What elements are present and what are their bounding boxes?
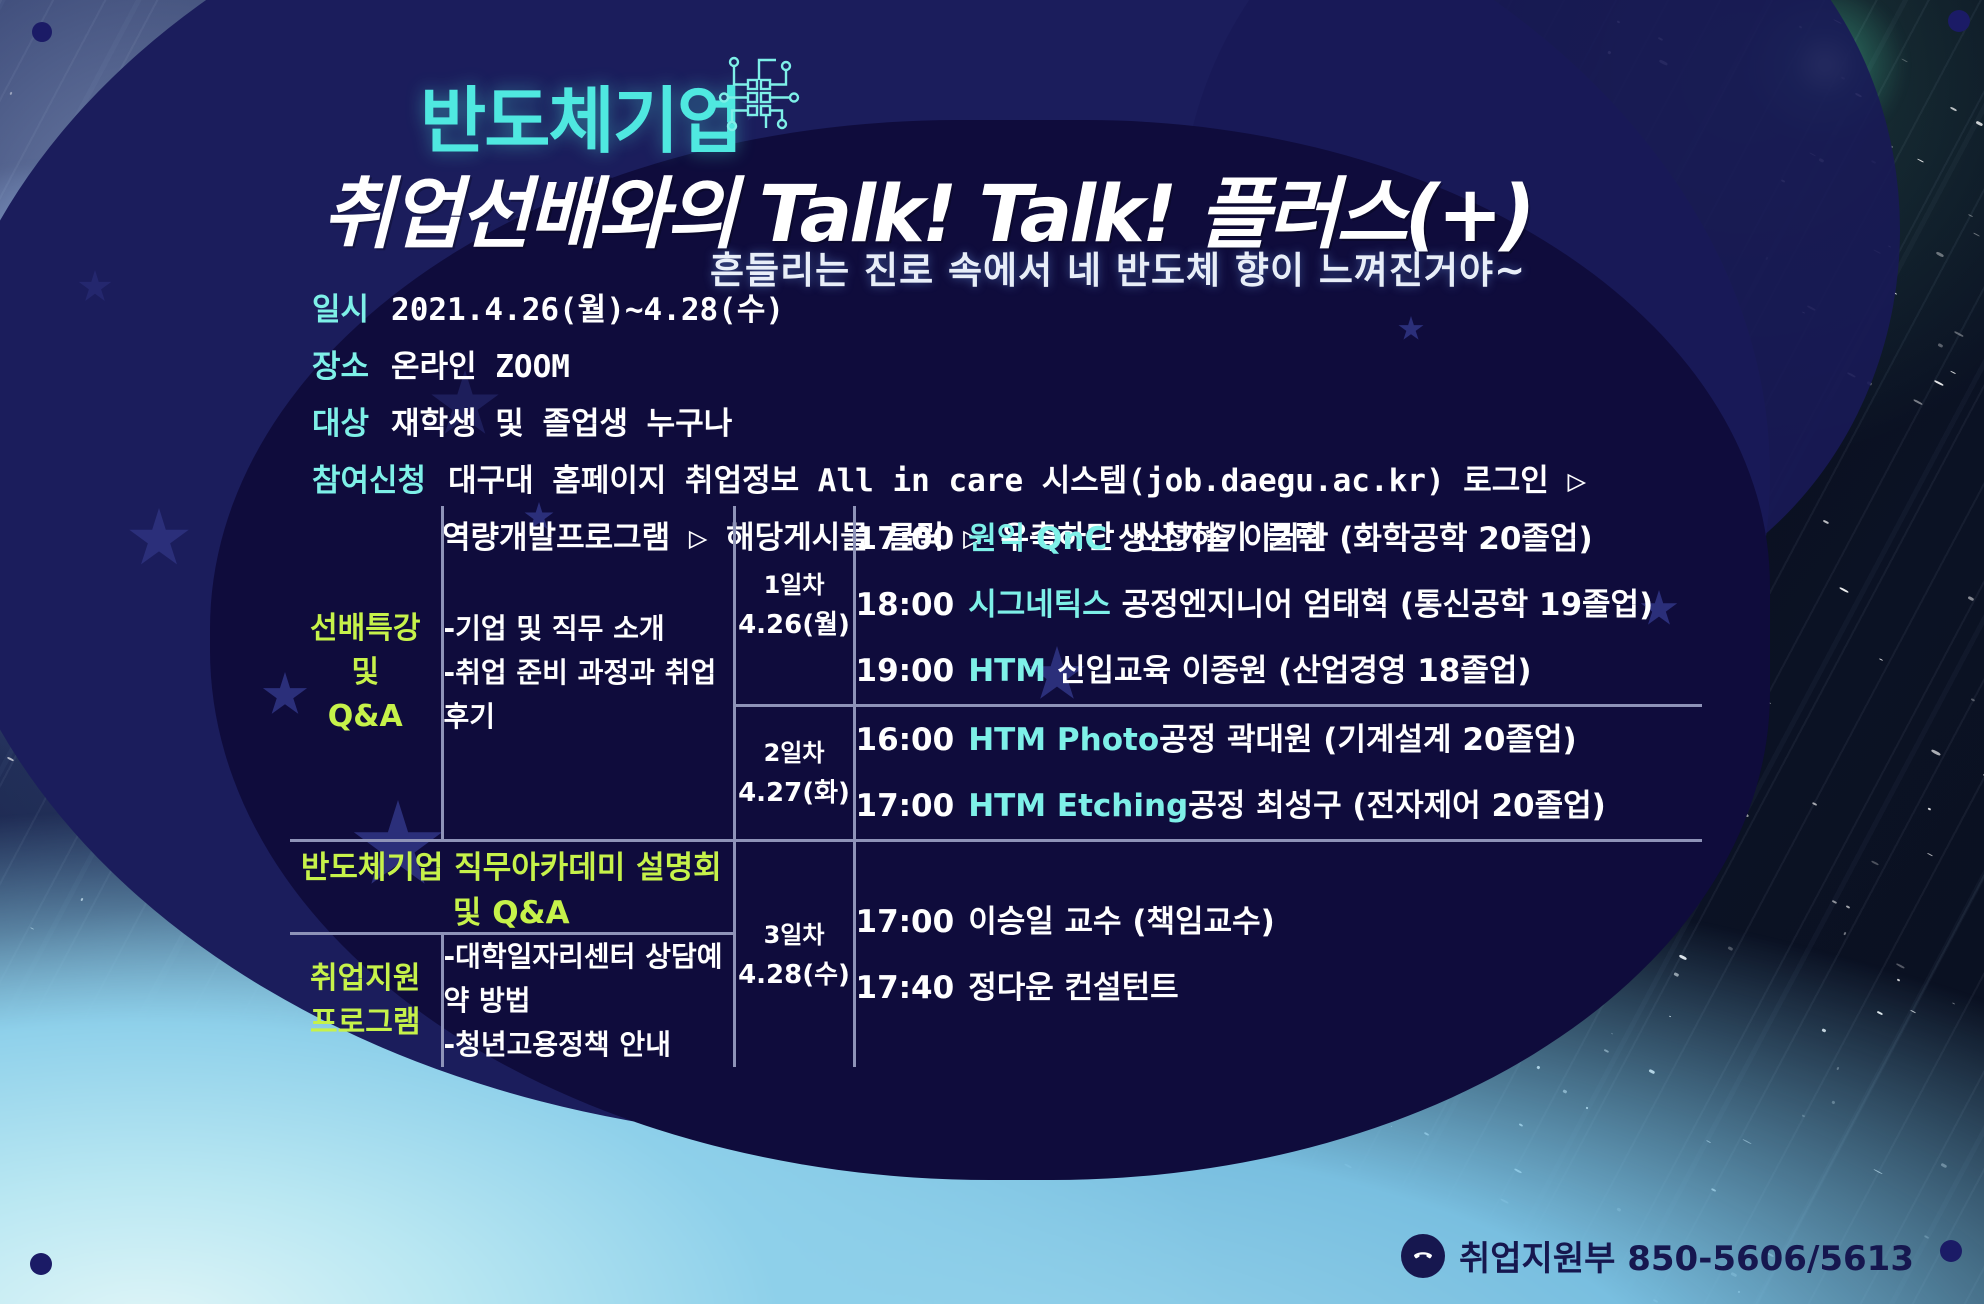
info-value-place: 온라인 ZOOM: [391, 345, 570, 390]
footer-contact: 취업지원부 850-5606/5613: [1401, 1231, 1914, 1280]
session-row: 17:00HTM Etching공정 최성구 (전자제어 20졸업): [856, 773, 1703, 839]
schedule-table: 선배특강 및 Q&A -기업 및 직무 소개 -취업 준비 과정과 취업 후기 …: [290, 506, 1702, 1067]
table-row: 반도체기업 직무아카데미 설명회 및 Q&A 3일차 4.28(수) 17:00…: [290, 841, 1702, 934]
info-row-apply: 참여신청 대구대 홈페이지 취업정보 All in care 시스템(job.d…: [312, 459, 1586, 504]
session-org: HTM: [968, 653, 1046, 689]
day1-date: 4.26(월): [736, 605, 853, 645]
session-time: 17:40: [856, 970, 955, 1006]
session-time: 19:00: [856, 653, 955, 689]
category-talk-line2: 및: [290, 651, 441, 695]
session-time: 18:00: [856, 587, 955, 623]
session-row: 17:40정다운 컨설턴트: [856, 955, 1703, 1021]
info-row-datetime: 일시 2021.4.26(월)~4.28(수): [312, 288, 1586, 333]
day3-label: 3일차: [736, 915, 853, 955]
day2-date: 4.27(화): [736, 773, 853, 813]
session-detail: 공정 최성구 (전자제어 20졸업): [1188, 788, 1606, 824]
desc-talk-line2: -취업 준비 과정과 취업 후기: [444, 651, 733, 739]
circuit-chip-icon: [710, 46, 806, 140]
day1-sessions-cell: 17:00원익 QnC 생산기술 이기환 (화학공학 20졸업) 18:00시그…: [854, 506, 1702, 706]
session-org: HTM Etching: [968, 788, 1188, 824]
footer-contact-text: 취업지원부 850-5606/5613: [1459, 1231, 1914, 1280]
desc-talk-cell: -기업 및 직무 소개 -취업 준비 과정과 취업 후기: [442, 506, 734, 841]
session-row: 19:00HTM 신입교육 이종원 (산업경영 18졸업): [856, 638, 1703, 704]
day2-sessions-cell: 16:00HTM Photo공정 곽대원 (기계설계 20졸업) 17:00HT…: [854, 706, 1702, 841]
info-label-audience: 대상: [312, 402, 369, 447]
poster-tagline: 흔들리는 진로 속에서 네 반도체 향이 느껴진거야~: [710, 240, 1526, 294]
session-detail: 공정 곽대원 (기계설계 20졸업): [1159, 722, 1577, 758]
session-detail: 생산기술 이기환 (화학공학 20졸업): [1118, 521, 1593, 557]
info-value-apply: 대구대 홈페이지 취업정보 All in care 시스템(job.daegu.…: [448, 459, 1586, 504]
session-row: 18:00시그네틱스 공정엔지니어 엄태혁 (통신공학 19졸업): [856, 572, 1703, 638]
info-label-apply: 참여신청: [312, 459, 426, 504]
category-talk-line1: 선배특강: [290, 607, 441, 651]
session-detail: 공정엔지니어 엄태혁 (통신공학 19졸업): [1122, 587, 1654, 623]
session-detail: 신입교육 이종원 (산업경영 18졸업): [1057, 653, 1532, 689]
table-row: 선배특강 및 Q&A -기업 및 직무 소개 -취업 준비 과정과 취업 후기 …: [290, 506, 1702, 706]
info-label-datetime: 일시: [312, 288, 369, 333]
info-label-place: 장소: [312, 345, 369, 390]
session-org: 원익 QnC: [968, 521, 1107, 557]
day1-label: 1일차: [736, 565, 853, 605]
session-time: 16:00: [856, 722, 955, 758]
session-org: HTM Photo: [968, 722, 1159, 758]
session-time: 17:00: [856, 521, 955, 557]
session-row: 16:00HTM Photo공정 곽대원 (기계설계 20졸업): [856, 707, 1703, 773]
session-detail: 정다운 컨설턴트: [968, 970, 1178, 1006]
category-support-line1: 취업지원: [290, 957, 441, 1001]
info-row-place: 장소 온라인 ZOOM: [312, 345, 1586, 390]
info-value-audience: 재학생 및 졸업생 누구나: [391, 402, 732, 447]
session-row: 17:00이승일 교수 (책임교수): [856, 889, 1703, 955]
day3-sessions-cell: 17:00이승일 교수 (책임교수) 17:40정다운 컨설턴트: [854, 841, 1702, 1068]
category-support-line2: 프로그램: [290, 1001, 441, 1045]
session-row: 17:00원익 QnC 생산기술 이기환 (화학공학 20졸업): [856, 506, 1703, 572]
academy-row-cell: 반도체기업 직무아카데미 설명회 및 Q&A: [290, 841, 734, 934]
info-row-audience: 대상 재학생 및 졸업생 누구나: [312, 402, 1586, 447]
day2-label: 2일차: [736, 733, 853, 773]
day1-cell: 1일차 4.26(월): [734, 506, 854, 706]
category-support-cell: 취업지원 프로그램: [290, 934, 442, 1068]
desc-talk-line1: -기업 및 직무 소개: [444, 607, 733, 651]
day3-cell: 3일차 4.28(수): [734, 841, 854, 1068]
poster-root: 반도체기업: [0, 0, 1984, 1304]
category-talk-line3: Q&A: [290, 695, 441, 739]
session-org: 시그네틱스: [968, 587, 1111, 623]
day2-cell: 2일차 4.27(화): [734, 706, 854, 841]
session-detail: 이승일 교수 (책임교수): [968, 904, 1275, 940]
session-time: 17:00: [856, 788, 955, 824]
info-value-datetime: 2021.4.26(월)~4.28(수): [391, 288, 784, 333]
desc-support-line1: -대학일자리센터 상담예약 방법: [444, 935, 733, 1023]
phone-icon: [1401, 1234, 1445, 1278]
desc-support-line2: -청년고용정책 안내: [444, 1023, 733, 1067]
desc-support-cell: -대학일자리센터 상담예약 방법 -청년고용정책 안내: [442, 934, 734, 1068]
session-time: 17:00: [856, 904, 955, 940]
day3-date: 4.28(수): [736, 955, 853, 995]
category-talk-cell: 선배특강 및 Q&A: [290, 506, 442, 841]
